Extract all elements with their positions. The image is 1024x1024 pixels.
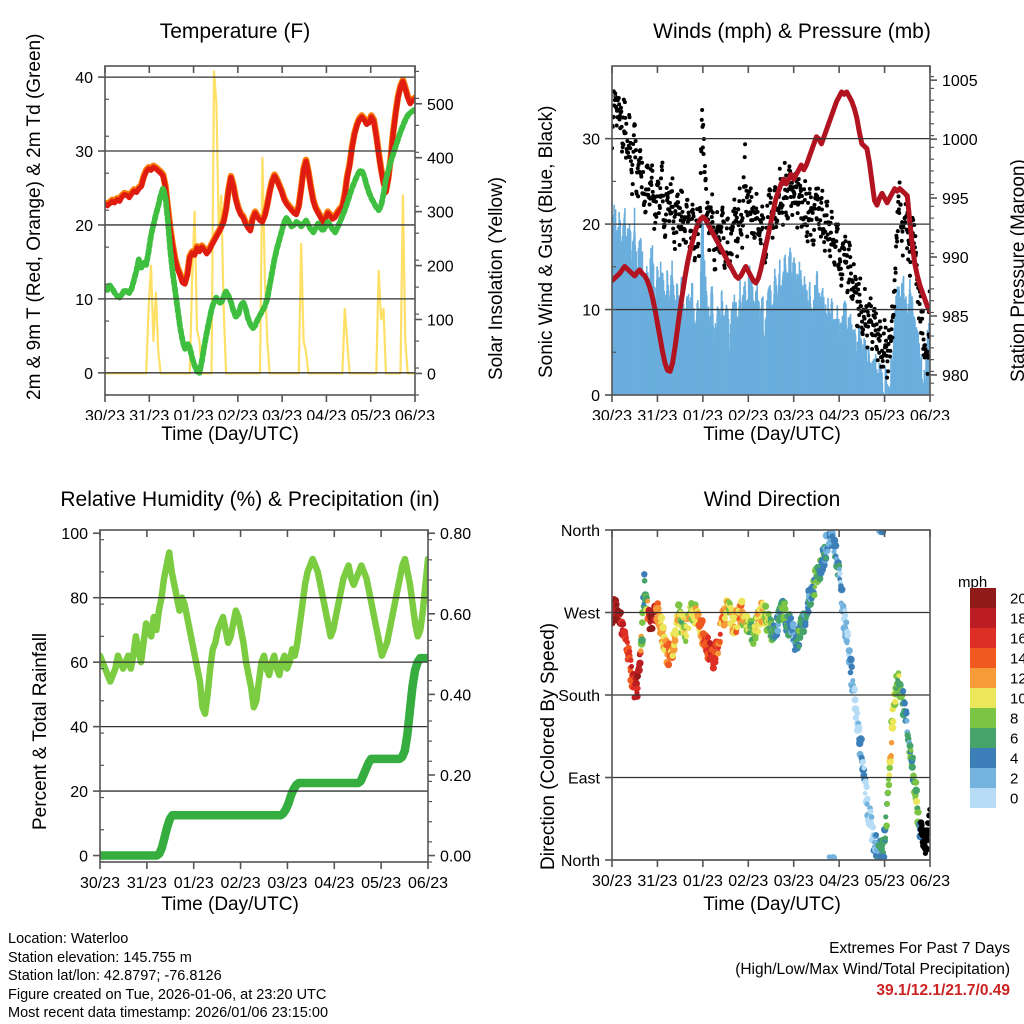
colorbar-label: 0 [1010,791,1018,808]
svg-text:0: 0 [79,849,88,866]
svg-text:100: 100 [61,526,88,543]
svg-text:990: 990 [942,250,969,267]
extremes-block: Extremes For Past 7 Days (High/Low/Max W… [735,938,1010,1001]
svg-text:West: West [564,606,601,623]
svg-text:06/23: 06/23 [910,873,950,890]
svg-text:400: 400 [427,151,454,168]
colorbar-label: 8 [1010,711,1018,728]
svg-text:30/23: 30/23 [592,408,632,420]
colorbar-label: 10 [1010,691,1024,708]
svg-text:20: 20 [75,218,93,235]
svg-text:04/23: 04/23 [819,408,859,420]
svg-text:East: East [568,771,601,788]
svg-text:30/23: 30/23 [80,875,120,890]
panel-temperature: Temperature (F) 2m & 9m T (Red, Orange) … [0,0,512,460]
colorbar: 20+181614121086420 [952,580,1024,880]
svg-text:06/23: 06/23 [408,875,448,890]
colorbar-label: 2 [1010,771,1018,788]
colorbar-label: 14 [1010,651,1024,668]
svg-text:03/23: 03/23 [774,408,814,420]
svg-text:02/23: 02/23 [218,408,258,420]
panel-wind-direction-xlabel: Time (Day/UTC) [572,894,972,916]
svg-text:10: 10 [582,303,600,320]
svg-text:05/23: 05/23 [865,873,905,890]
svg-text:0: 0 [591,388,600,405]
svg-text:1005: 1005 [942,73,978,90]
svg-text:20: 20 [582,217,600,234]
svg-text:02/23: 02/23 [728,873,768,890]
svg-text:31/23: 31/23 [127,875,167,890]
svg-text:01/23: 01/23 [174,875,214,890]
svg-text:03/23: 03/23 [774,873,814,890]
svg-text:1000: 1000 [942,132,978,149]
extremes-subtitle: (High/Low/Max Wind/Total Precipitation) [735,959,1010,980]
svg-text:30/23: 30/23 [85,408,125,420]
svg-text:300: 300 [427,205,454,222]
svg-text:03/23: 03/23 [262,408,302,420]
svg-text:30: 30 [75,144,93,161]
colorbar-label: 12 [1010,671,1024,688]
svg-text:0.80: 0.80 [440,526,471,543]
svg-text:0.00: 0.00 [440,849,471,866]
svg-text:0.40: 0.40 [440,687,471,704]
svg-text:31/23: 31/23 [637,408,677,420]
svg-text:100: 100 [427,312,454,329]
svg-text:985: 985 [942,309,969,326]
svg-text:0.20: 0.20 [440,768,471,785]
panel-winds-plot: 01020309809859909951000100530/2331/2301/… [512,0,1024,420]
svg-text:01/23: 01/23 [683,873,723,890]
panel-humidity-plot: 0204060801000.000.200.400.600.8030/2331/… [0,470,512,890]
svg-text:0: 0 [84,366,93,383]
panel-winds-xlabel: Time (Day/UTC) [572,424,972,446]
svg-text:500: 500 [427,97,454,114]
svg-text:0: 0 [427,366,436,383]
svg-text:30/23: 30/23 [592,873,632,890]
svg-text:04/23: 04/23 [314,875,354,890]
colorbar-label: 20+ [1010,591,1024,608]
metadata-timestamp: Most recent data timestamp: 2026/01/06 2… [8,1004,328,1023]
svg-text:05/23: 05/23 [361,875,401,890]
svg-text:06/23: 06/23 [395,408,435,420]
svg-text:05/23: 05/23 [865,408,905,420]
metadata-created: Figure created on Tue, 2026-01-06, at 23… [8,986,328,1005]
svg-text:02/23: 02/23 [221,875,261,890]
colorbar-label: 4 [1010,751,1018,768]
colorbar-label: 6 [1010,731,1018,748]
svg-text:02/23: 02/23 [728,408,768,420]
metadata-latlon: Station lat/lon: 42.8797; -76.8126 [8,967,328,986]
svg-text:04/23: 04/23 [819,873,859,890]
svg-text:04/23: 04/23 [306,408,346,420]
svg-text:980: 980 [942,368,969,385]
panel-temperature-plot: 010203040010020030040050030/2331/2301/23… [0,0,512,420]
svg-text:31/23: 31/23 [637,873,677,890]
metadata-location: Location: Waterloo [8,930,328,949]
svg-text:40: 40 [75,70,93,87]
panel-winds-pressure: Winds (mph) & Pressure (mb) Sonic Wind &… [512,0,1024,460]
svg-text:North: North [561,523,600,540]
panel-humidity-xlabel: Time (Day/UTC) [0,894,460,916]
panel-wind-direction-plot: NorthWestSouthEastNorth30/2331/2301/2302… [512,470,1024,890]
panel-temperature-xlabel: Time (Day/UTC) [0,424,460,446]
svg-text:0.60: 0.60 [440,607,471,624]
panel-humidity-precip: Relative Humidity (%) & Precipitation (i… [0,470,512,930]
svg-text:06/23: 06/23 [910,408,950,420]
svg-text:03/23: 03/23 [267,875,307,890]
svg-text:995: 995 [942,191,969,208]
metadata-elevation: Station elevation: 145.755 m [8,949,328,968]
svg-text:01/23: 01/23 [174,408,214,420]
svg-text:North: North [561,853,600,870]
extremes-title: Extremes For Past 7 Days [735,938,1010,959]
extremes-values: 39.1/12.1/21.7/0.49 [735,980,1010,1001]
svg-text:80: 80 [70,591,88,608]
svg-text:200: 200 [427,259,454,276]
svg-text:31/23: 31/23 [129,408,169,420]
svg-text:30: 30 [582,132,600,149]
svg-text:60: 60 [70,655,88,672]
svg-text:01/23: 01/23 [683,408,723,420]
svg-text:20: 20 [70,784,88,801]
figure-metadata: Location: Waterloo Station elevation: 14… [8,930,328,1023]
colorbar-label: 18 [1010,611,1024,628]
panel-wind-direction: Wind Direction Direction (Colored By Spe… [512,470,1024,930]
colorbar-label: 16 [1010,631,1024,648]
svg-text:South: South [558,688,600,705]
svg-text:05/23: 05/23 [351,408,391,420]
svg-text:10: 10 [75,292,93,309]
svg-text:40: 40 [70,720,88,737]
